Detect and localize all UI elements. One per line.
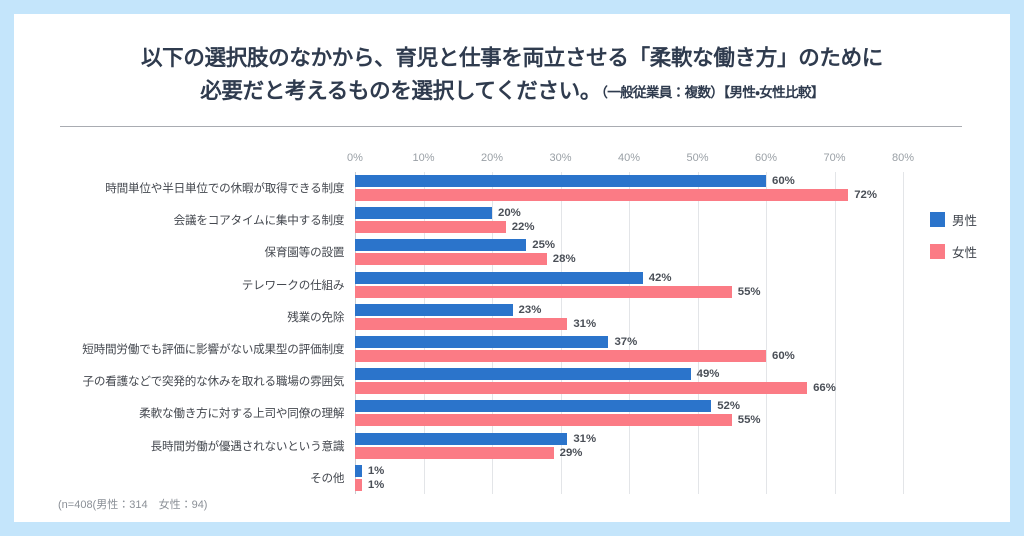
bar-group-female: 55% xyxy=(355,414,903,426)
bar-female[interactable] xyxy=(355,189,848,201)
x-axis-tick-label: 40% xyxy=(618,152,640,164)
legend-item-female[interactable]: 女性 xyxy=(930,242,977,261)
bar-female[interactable] xyxy=(355,253,547,265)
bar-group-female: 22% xyxy=(355,221,903,233)
bar-group-female: 55% xyxy=(355,286,903,298)
plot-area: 時間単位や半日単位での休暇が取得できる制度60%72%会議をコアタイムに集中する… xyxy=(355,172,903,494)
bar-value-label: 1% xyxy=(362,465,384,477)
bar-group-male: 60% xyxy=(355,175,903,187)
x-axis-tick-label: 0% xyxy=(347,152,363,164)
bar-group-male: 1% xyxy=(355,465,903,477)
bar-female[interactable] xyxy=(355,479,362,491)
chart-row: 会議をコアタイムに集中する制度20%22% xyxy=(355,204,903,236)
bar-value-label: 55% xyxy=(732,286,761,298)
category-label: 長時間労働が優遇されないという意識 xyxy=(151,438,353,454)
bar-value-label: 20% xyxy=(492,207,521,219)
x-axis-tick-label: 80% xyxy=(892,152,914,164)
chart-legend: 男性女性 xyxy=(930,210,977,274)
bar-value-label: 31% xyxy=(567,318,596,330)
x-axis-tick-label: 30% xyxy=(549,152,571,164)
bar-male[interactable] xyxy=(355,272,643,284)
bar-male[interactable] xyxy=(355,207,492,219)
legend-label: 男性 xyxy=(952,210,977,229)
x-axis-tick-label: 50% xyxy=(686,152,708,164)
bar-group-male: 52% xyxy=(355,400,903,412)
chart-row: 長時間労働が優遇されないという意識31%29% xyxy=(355,430,903,462)
bar-group-male: 42% xyxy=(355,272,903,284)
category-label: その他 xyxy=(310,470,352,486)
legend-swatch-icon xyxy=(930,212,945,227)
title-block: 以下の選択肢のなかから、育児と仕事を両立させる「柔軟な働き方」のために 必要だと… xyxy=(14,14,1010,109)
bar-group-male: 23% xyxy=(355,304,903,316)
bar-male[interactable] xyxy=(355,368,691,380)
legend-label: 女性 xyxy=(952,242,977,261)
bar-value-label: 52% xyxy=(711,400,740,412)
footnote: (n=408(男性：314 女性：94) xyxy=(58,496,207,512)
bar-value-label: 49% xyxy=(691,368,720,380)
x-axis-tick-labels: 0%10%20%30%40%50%60%70%80% xyxy=(355,152,903,170)
x-axis-tick-label: 70% xyxy=(823,152,845,164)
bar-group-female: 60% xyxy=(355,350,903,362)
bar-group-female: 1% xyxy=(355,479,903,491)
bar-value-label: 1% xyxy=(362,479,384,491)
bar-female[interactable] xyxy=(355,318,567,330)
chart-row: 柔軟な働き方に対する上司や同僚の理解52%55% xyxy=(355,397,903,429)
category-label: 柔軟な働き方に対する上司や同僚の理解 xyxy=(139,405,352,421)
bar-male[interactable] xyxy=(355,465,362,477)
chart-row: 残業の免除23%31% xyxy=(355,301,903,333)
bar-value-label: 60% xyxy=(766,350,795,362)
chart-row: 時間単位や半日単位での休暇が取得できる制度60%72% xyxy=(355,172,903,204)
bar-value-label: 37% xyxy=(608,336,637,348)
bar-male[interactable] xyxy=(355,336,608,348)
chart-row: 保育園等の設置25%28% xyxy=(355,236,903,268)
bar-group-male: 20% xyxy=(355,207,903,219)
bar-female[interactable] xyxy=(355,350,766,362)
bar-group-male: 25% xyxy=(355,239,903,251)
bar-female[interactable] xyxy=(355,414,732,426)
bar-chart: 0%10%20%30%40%50%60%70%80% 時間単位や半日単位での休暇… xyxy=(14,140,1010,522)
chart-row: テレワークの仕組み42%55% xyxy=(355,269,903,301)
bar-value-label: 42% xyxy=(643,272,672,284)
bar-value-label: 55% xyxy=(732,414,761,426)
bar-value-label: 22% xyxy=(506,221,535,233)
category-label: 子の看護などで突発的な休みを取れる職場の雰囲気 xyxy=(82,373,352,389)
chart-row: その他1%1% xyxy=(355,462,903,494)
bar-value-label: 29% xyxy=(554,447,583,459)
legend-item-male[interactable]: 男性 xyxy=(930,210,977,229)
bar-value-label: 60% xyxy=(766,175,795,187)
chart-row: 短時間労働でも評価に影響がない成果型の評価制度37%60% xyxy=(355,333,903,365)
category-label: 残業の免除 xyxy=(287,309,352,325)
bar-male[interactable] xyxy=(355,400,711,412)
x-axis-tick-label: 10% xyxy=(412,152,434,164)
bar-value-label: 31% xyxy=(567,433,596,445)
page-title-line-1: 以下の選択肢のなかから、育児と仕事を両立させる「柔軟な働き方」のために xyxy=(14,42,1010,75)
bar-value-label: 66% xyxy=(807,382,836,394)
bar-group-female: 31% xyxy=(355,318,903,330)
bar-group-male: 31% xyxy=(355,433,903,445)
bar-female[interactable] xyxy=(355,286,732,298)
category-label: 時間単位や半日単位での休暇が取得できる制度 xyxy=(105,180,352,196)
bar-value-label: 28% xyxy=(547,253,576,265)
bar-value-label: 25% xyxy=(526,239,555,251)
x-axis-tick-label: 20% xyxy=(481,152,503,164)
bar-female[interactable] xyxy=(355,382,807,394)
page-subtitle: （一般従業員：複数）【男性・女性比較】 xyxy=(601,85,824,100)
bar-group-female: 29% xyxy=(355,447,903,459)
bar-group-male: 37% xyxy=(355,336,903,348)
category-label: 短時間労働でも評価に影響がない成果型の評価制度 xyxy=(82,341,352,357)
bar-group-male: 49% xyxy=(355,368,903,380)
title-divider xyxy=(60,126,962,127)
bar-group-female: 66% xyxy=(355,382,903,394)
bar-group-female: 72% xyxy=(355,189,903,201)
category-label: 保育園等の設置 xyxy=(265,244,353,260)
page-title-line-2: 必要だと考えるものを選択してください。（一般従業員：複数）【男性・女性比較】 xyxy=(14,75,1010,108)
bar-female[interactable] xyxy=(355,221,506,233)
category-label: テレワークの仕組み xyxy=(242,277,353,293)
chart-row: 子の看護などで突発的な休みを取れる職場の雰囲気49%66% xyxy=(355,365,903,397)
bar-male[interactable] xyxy=(355,175,766,187)
bar-group-female: 28% xyxy=(355,253,903,265)
chart-card: 以下の選択肢のなかから、育児と仕事を両立させる「柔軟な働き方」のために 必要だと… xyxy=(14,14,1010,522)
x-axis-tick-label: 60% xyxy=(755,152,777,164)
bar-male[interactable] xyxy=(355,433,567,445)
bar-male[interactable] xyxy=(355,304,513,316)
legend-swatch-icon xyxy=(930,244,945,259)
bar-female[interactable] xyxy=(355,447,554,459)
gridline xyxy=(903,172,904,494)
category-label: 会議をコアタイムに集中する制度 xyxy=(174,212,353,228)
page-title-line-2-text: 必要だと考えるものを選択してください。 xyxy=(200,79,601,103)
bar-value-label: 72% xyxy=(848,189,877,201)
bar-value-label: 23% xyxy=(513,304,542,316)
bar-male[interactable] xyxy=(355,239,526,251)
